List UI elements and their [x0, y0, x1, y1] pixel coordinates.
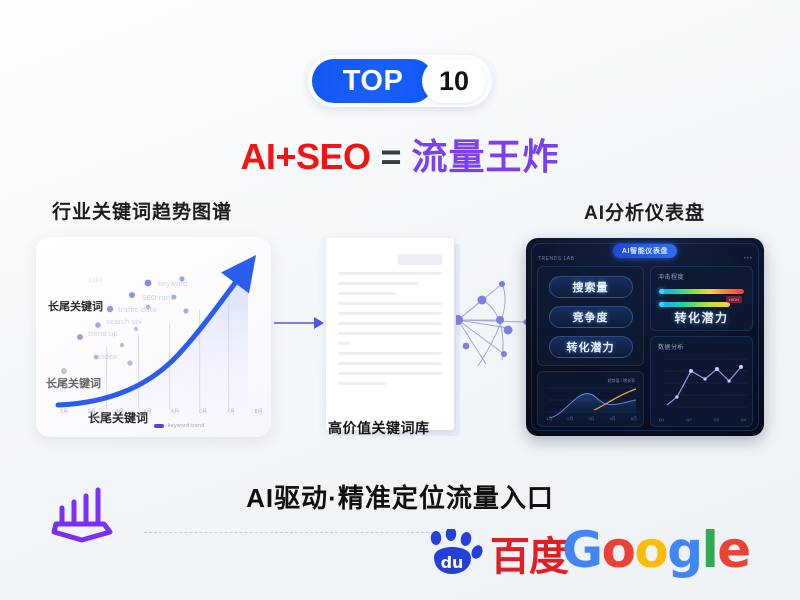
gauge-bar-primary	[660, 289, 744, 294]
area-tick: 1月	[546, 416, 552, 422]
svg-text:SEO rank: SEO rank	[142, 294, 175, 302]
trend-chart-card: keyword SEO rank traffic data search vol…	[36, 237, 271, 437]
flow-arrow-icon	[274, 316, 326, 330]
document-line	[338, 352, 442, 355]
gauge-marker-icon	[659, 289, 664, 294]
document-line	[338, 382, 386, 385]
baidu-du-text: du	[441, 553, 464, 572]
dashboard-brand: TRENDS LAB	[538, 256, 574, 262]
axis-tick: 1月	[60, 408, 68, 415]
area-tick: 4月	[610, 416, 616, 422]
node-network-graphic	[456, 268, 536, 373]
line-chart-panel: 数据分析	[650, 336, 753, 427]
document-line	[338, 322, 442, 325]
axis-tick: 8月	[255, 408, 263, 415]
gauge-bar-secondary	[660, 302, 730, 307]
google-letter: o	[602, 521, 635, 579]
axis-tick: 4月	[143, 408, 151, 415]
chart-legend: keyword trend	[154, 423, 205, 429]
axis-tick: 7月	[227, 408, 235, 415]
document-line	[338, 302, 442, 305]
document-card: 高价值关键词库	[326, 238, 460, 436]
metrics-panel: 搜索量 竞争度 转化潜力	[537, 266, 644, 366]
google-letter: e	[717, 521, 749, 579]
document-page	[326, 238, 454, 430]
legend-swatch-icon	[154, 424, 164, 428]
ai-dashboard-card: AI智能仪表盘 TRENDS LAB ••• 搜索量 竞争度 转化潜力 趋势值 …	[526, 238, 764, 436]
document-line	[338, 332, 442, 335]
divider-dashed	[144, 532, 444, 533]
headline-left: AI+SEO	[240, 136, 370, 177]
baidu-wordmark: 百度	[490, 524, 568, 582]
area-tick: 5月	[631, 416, 637, 422]
chart-keyword-label-2: 长尾关键词	[46, 375, 101, 391]
document-line	[338, 282, 419, 285]
bar-chart-pedestal-icon	[48, 482, 120, 544]
line-tick: Q1	[659, 417, 664, 422]
headline: AI+SEO=流量王炸	[0, 128, 800, 180]
area-chart-ticks: 1月 2月 3月 4月 5月	[546, 416, 637, 422]
line-chart-ticks: Q1 Q2 Q3 Q4	[659, 417, 746, 422]
gauge-marker-icon	[659, 302, 664, 307]
google-letter: G	[562, 521, 602, 579]
google-logo: Google	[562, 521, 750, 579]
baidu-paw-icon: du	[424, 529, 488, 577]
document-line	[338, 272, 442, 275]
line-tick: Q4	[741, 417, 746, 422]
google-letter: o	[634, 521, 667, 579]
chart-keyword-label-1: 长尾关键词	[48, 298, 103, 314]
top-badge-number: 10	[422, 59, 486, 103]
axis-tick: 2月	[88, 408, 96, 415]
svg-text:traffic data: traffic data	[118, 306, 157, 314]
gauge-overlay-label: 转化潜力	[651, 309, 752, 326]
trend-chart-graphic: keyword SEO rank traffic data search vol…	[36, 237, 271, 437]
svg-text:trend up: trend up	[88, 330, 118, 338]
area-chart-panel: 趋势值 / 增长率 1月 2月	[537, 371, 644, 427]
metric-pill-conversion[interactable]: 转化潜力	[549, 336, 633, 358]
headline-equals: =	[381, 136, 402, 177]
poster-canvas: TOP 10 AI+SEO=流量王炸 行业关键词趋势图谱 AI分析仪表盘	[0, 0, 800, 600]
line-tick: Q2	[686, 417, 691, 422]
baidu-logo: du 百度	[424, 524, 568, 582]
dashboard-menu-icon[interactable]: •••	[744, 256, 753, 262]
bottom-slogan: AI驱动·精准定位流量入口	[0, 478, 800, 515]
svg-text:1200: 1200	[88, 277, 103, 284]
legend-label: keyword trend	[168, 423, 205, 429]
metric-pill-competition[interactable]: 竞争度	[549, 306, 633, 328]
gauge-panel-title: 冲击程度	[658, 272, 684, 281]
document-line	[338, 292, 396, 295]
dashboard-title-badge: AI智能仪表盘	[613, 244, 677, 258]
area-tick: 2月	[567, 416, 573, 422]
line-chart-graphic	[651, 353, 754, 421]
google-letter: g	[667, 521, 701, 579]
svg-text:search vol: search vol	[106, 318, 142, 326]
line-tick: Q3	[713, 417, 718, 422]
chart-axis-ticks: 1月 2月 3月 4月 5月 6月 7月 8月	[60, 408, 263, 415]
document-line	[338, 312, 442, 315]
section-title-right: AI分析仪表盘	[584, 198, 705, 225]
line-panel-title: 数据分析	[658, 342, 684, 351]
axis-tick: 6月	[199, 408, 207, 415]
axis-tick: 5月	[171, 408, 179, 415]
top-badge-label: TOP	[312, 59, 434, 103]
document-line	[338, 372, 442, 375]
top-badge: TOP 10	[308, 55, 492, 107]
document-header-chip	[398, 254, 442, 265]
svg-text:keyword: keyword	[158, 280, 187, 288]
document-line	[338, 342, 350, 345]
section-title-left: 行业关键词趋势图谱	[52, 197, 232, 224]
google-letter: l	[702, 521, 718, 579]
area-tick: 3月	[588, 416, 594, 422]
document-caption: 高价值关键词库	[328, 418, 430, 438]
metric-pill-search-volume[interactable]: 搜索量	[549, 276, 633, 298]
gauge-panel: 冲击程度 HIGH 转化潜力	[650, 266, 753, 331]
document-line	[338, 362, 442, 365]
headline-right: 流量王炸	[412, 136, 560, 177]
svg-text:index: index	[98, 353, 117, 361]
axis-tick: 3月	[116, 408, 124, 415]
chart-axis-label: 时间	[92, 415, 102, 422]
gauge-status-badge: HIGH	[726, 296, 742, 303]
